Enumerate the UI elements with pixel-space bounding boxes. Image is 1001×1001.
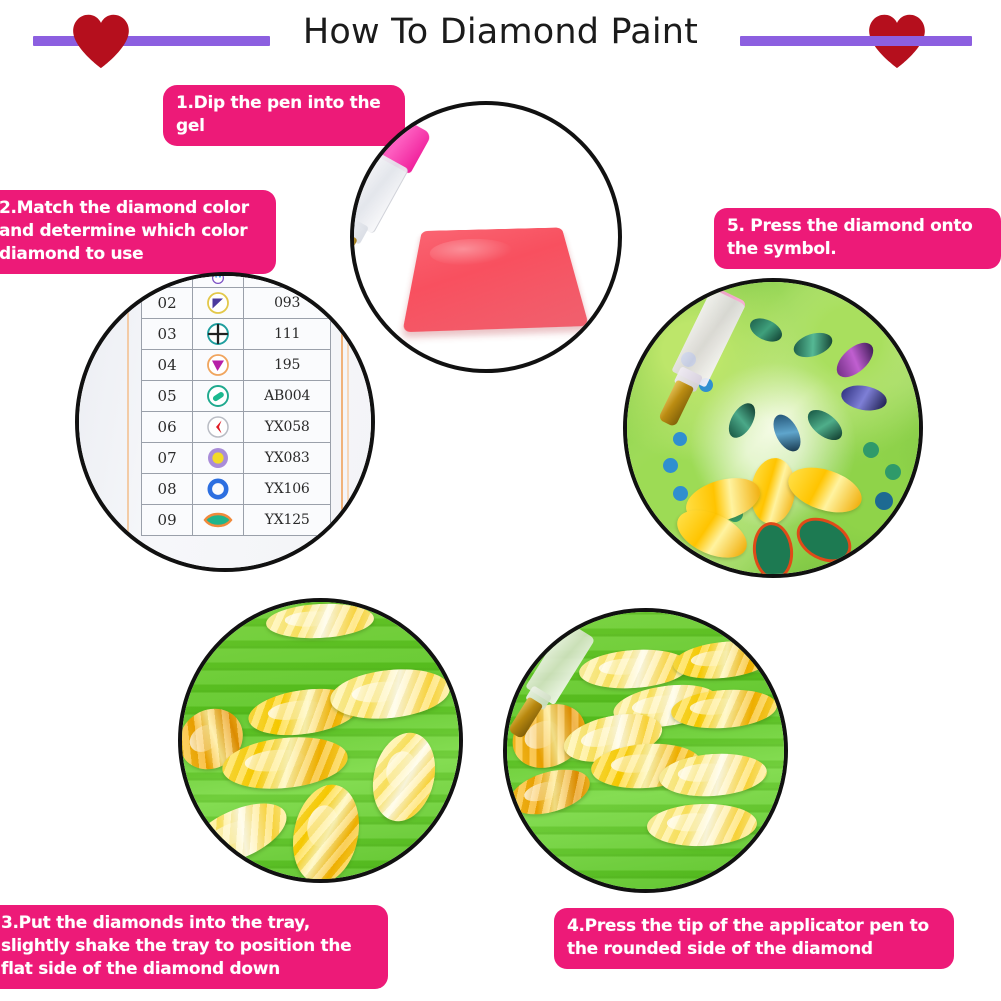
cell-code: YX083 — [244, 443, 331, 474]
photo-pen-to-rounded-side — [503, 608, 788, 893]
cell-number: 02 — [142, 288, 193, 319]
canvas-gem — [863, 442, 879, 458]
table-row: 07 YX083 — [142, 443, 331, 474]
cell-number: 09 — [142, 505, 193, 536]
step-label-4: 4.Press the tip of the applicator pen to… — [554, 908, 954, 969]
pen-tip — [508, 696, 544, 739]
triangle-down-circle-icon — [193, 350, 244, 381]
ring-circle-icon — [193, 474, 244, 505]
table-row: 06 YX058 — [142, 412, 331, 443]
table-row: 09 YX125 — [142, 505, 331, 536]
cell-code: 028 — [244, 272, 331, 288]
canvas-gem — [673, 486, 688, 501]
photo-diamonds-in-tray — [178, 598, 463, 883]
cell-number: 05 — [142, 381, 193, 412]
gel-pad — [402, 227, 589, 332]
chart-margin-rule — [347, 276, 349, 568]
chevron-left-circle-icon — [193, 412, 244, 443]
photo-inner — [507, 612, 784, 889]
photo-dip-pen-in-gel — [350, 101, 622, 373]
photo-color-chart: 01 028 02 093 03 — [75, 272, 375, 572]
cell-code: YX106 — [244, 474, 331, 505]
photo-inner: 01 028 02 093 03 — [79, 276, 371, 568]
pen-tip — [658, 379, 694, 427]
plus-circle-icon — [193, 319, 244, 350]
canvas-gem — [663, 458, 678, 473]
table-row: 01 028 — [142, 272, 331, 288]
photo-inner — [627, 282, 919, 574]
cell-number: 06 — [142, 412, 193, 443]
table-row: 04 195 — [142, 350, 331, 381]
step-label-5: 5. Press the diamond onto the symbol. — [714, 208, 1001, 269]
cell-code: YX058 — [244, 412, 331, 443]
color-code-table: 01 028 02 093 03 — [141, 272, 331, 536]
cell-code: YX125 — [244, 505, 331, 536]
step-label-2: 2.Match the diamond color and determine … — [0, 190, 276, 274]
table-row: 03 111 — [142, 319, 331, 350]
canvas-gem — [875, 492, 893, 510]
cell-number: 07 — [142, 443, 193, 474]
page-title: How To Diamond Paint — [0, 12, 1001, 52]
chart-margin-rule — [341, 276, 343, 568]
cell-code: 093 — [244, 288, 331, 319]
canvas-gem — [885, 464, 901, 480]
smiley-circle-icon — [193, 272, 244, 288]
chart-margin-rule — [127, 276, 129, 568]
capsule-circle-icon — [193, 381, 244, 412]
table-row: 08 YX106 — [142, 474, 331, 505]
cell-number: 01 — [142, 272, 193, 288]
cell-code: 195 — [244, 350, 331, 381]
table-row: 05 AB004 — [142, 381, 331, 412]
page-header: How To Diamond Paint — [0, 0, 1001, 72]
cell-code: AB004 — [244, 381, 331, 412]
dot-ring-circle-icon — [193, 443, 244, 474]
photo-press-onto-symbol — [623, 278, 923, 578]
cell-number: 04 — [142, 350, 193, 381]
cell-code: 111 — [244, 319, 331, 350]
photo-inner — [182, 602, 459, 879]
photo-inner — [354, 105, 618, 369]
cell-number: 03 — [142, 319, 193, 350]
leaf-icon — [193, 505, 244, 536]
cell-number: 08 — [142, 474, 193, 505]
triangle-circle-icon — [193, 288, 244, 319]
step-label-3: 3.Put the diamonds into the tray, slight… — [0, 905, 388, 989]
table-row: 02 093 — [142, 288, 331, 319]
